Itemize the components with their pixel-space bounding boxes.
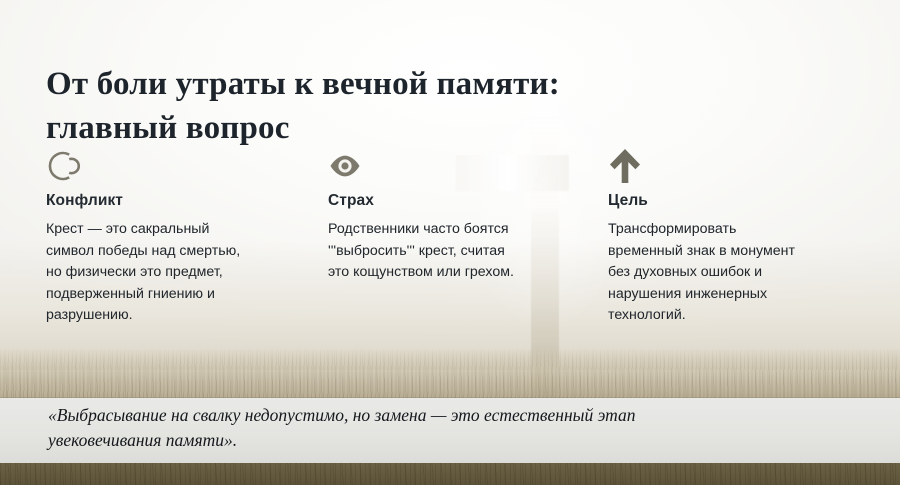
column-goal: Цель Трансформировать временный знак в м… [608, 140, 860, 327]
column-heading: Страх [328, 192, 580, 210]
column-conflict: Конфликт Крест — это сакральный символ п… [46, 140, 298, 327]
quote-banner: «Выбрасывание на свалку недопустимо, но … [0, 398, 900, 463]
column-heading: Конфликт [46, 192, 298, 210]
eye-icon [328, 140, 580, 192]
column-fear: Страх Родственники часто боятся '''выбро… [328, 140, 580, 284]
quote-text: «Выбрасывание на свалку недопустимо, но … [48, 403, 858, 453]
slide-canvas: От боли утраты к вечной памяти: главный … [0, 0, 900, 485]
column-body: Трансформировать временный знак в монуме… [608, 219, 860, 327]
broken-circle-icon [46, 140, 298, 192]
column-body: Родственники часто боятся '''выбросить''… [328, 219, 580, 284]
column-heading: Цель [608, 192, 860, 210]
slide-title: От боли утраты к вечной памяти: главный … [46, 62, 606, 150]
arrow-up-icon [608, 140, 860, 192]
column-body: Крест — это сакральный символ победы над… [46, 219, 298, 327]
